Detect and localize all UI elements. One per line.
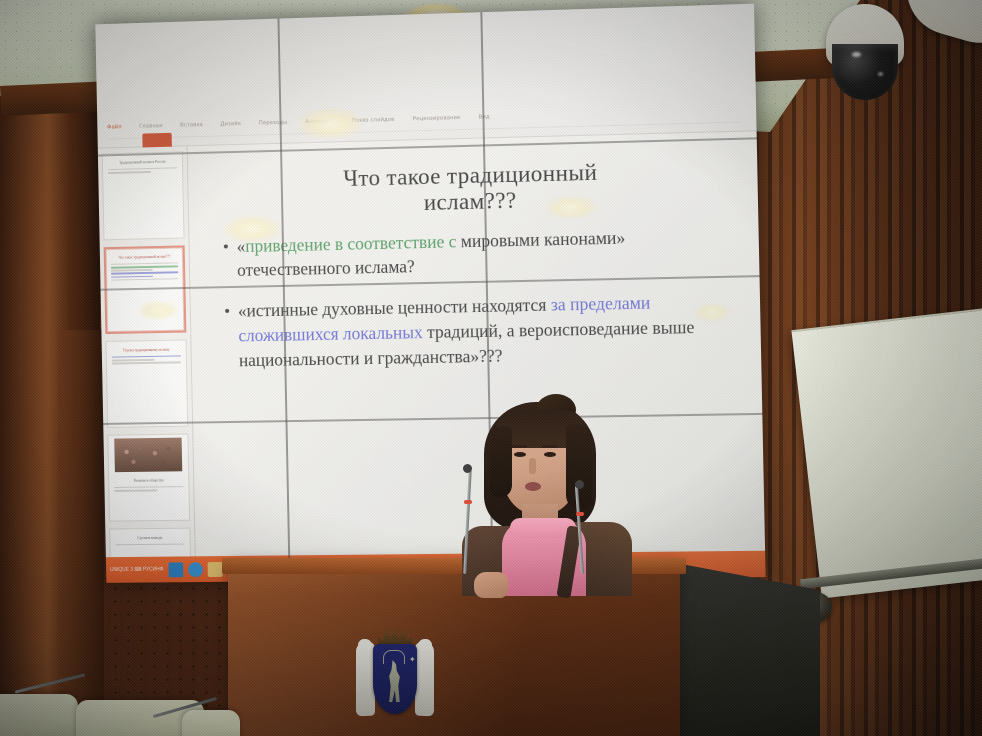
tab-review[interactable]: Рецензирование [412, 115, 460, 122]
powerpoint-ribbon: Файл Главная Вставка Дизайн Переходы Ани… [95, 4, 756, 149]
thumb-text-line [115, 543, 184, 545]
thumb-text-line [111, 269, 153, 271]
eye-left [514, 452, 526, 457]
start-button-icon[interactable] [168, 562, 183, 577]
tab-file[interactable]: Файл [107, 124, 122, 130]
bullet-1-seg-1-green: приведение в соответствие с [245, 231, 457, 256]
slide-thumbnail-4[interactable]: Религия и общество [107, 434, 190, 522]
hair-side-right [566, 424, 592, 510]
thumb-text-line [108, 171, 151, 174]
thumb-text-line [114, 489, 157, 491]
thumb-text-line-blue [111, 272, 178, 275]
eyebrow-right [542, 445, 557, 448]
slide-bullet-1: «приведение в соответствие с мировыми ка… [221, 223, 731, 284]
thumb-title-1: Традиционный ислам в России [106, 159, 179, 166]
slide-bullet-2: «истинные духовные ценности находятся за… [222, 289, 733, 373]
eyebrow-left [512, 445, 527, 448]
bear-head-left [358, 639, 372, 650]
thumb-text-line [112, 359, 155, 361]
file-explorer-icon[interactable] [207, 562, 222, 577]
bullet-1-seg-0: « [236, 236, 245, 256]
hair-side-left [490, 426, 512, 498]
microphone-indicator-left [464, 500, 472, 504]
thumb-text-line-blue [111, 275, 153, 277]
thumb-title-3: Угрозы традиционному исламу [110, 347, 183, 353]
thumb-title-4: Религия и общество [112, 478, 185, 484]
tab-home[interactable]: Главная [139, 123, 162, 130]
thumb-text-line [111, 278, 178, 281]
camera-highlight [852, 52, 861, 57]
slide-title-line-2: ислам??? [424, 188, 517, 215]
thumb-text-line-blue [112, 355, 181, 358]
camera-highlight-2 [878, 72, 883, 76]
hand [474, 572, 508, 598]
bear-head-right [418, 639, 432, 650]
regional-coat-of-arms-emblem: ✦ [352, 618, 438, 722]
taskbar-language-label: UNIQUE 3 ⌨ РУСИНФ [110, 567, 163, 573]
nose [529, 458, 536, 474]
microphone-head-right [575, 480, 584, 489]
thumb-text-line [108, 167, 177, 170]
star-icon: ✦ [409, 656, 416, 663]
thumb-title-5: Сделаем выводы [113, 536, 186, 542]
screenshot-root: Файл Главная Вставка Дизайн Переходы Ани… [0, 0, 982, 736]
polar-bear-right-icon [415, 642, 434, 717]
tab-transitions[interactable]: Переходы [259, 119, 288, 126]
thumb-text-line [112, 362, 181, 365]
slide-thumbnail-3[interactable]: Угрозы традиционному исламу [105, 339, 188, 427]
projected-desktop: Файл Главная Вставка Дизайн Переходы Ани… [95, 4, 765, 583]
slide-thumbnail-pane[interactable]: Традиционный ислам в России Что такое тр… [98, 146, 196, 561]
slide-bullet-list: «приведение в соответствие с мировыми ка… [221, 223, 733, 374]
podium-side-dark [660, 560, 820, 736]
tab-insert[interactable]: Вставка [180, 122, 203, 129]
whiteboard [791, 308, 982, 599]
thumb-text-line [114, 486, 183, 488]
speaker-person [440, 396, 660, 596]
thumb-text-line-green [111, 265, 178, 268]
video-wall-screen: Файл Главная Вставка Дизайн Переходы Ани… [95, 4, 765, 583]
tab-design[interactable]: Дизайн [221, 121, 242, 128]
microphone-head-left [463, 464, 472, 473]
microphone-indicator-right [576, 512, 584, 516]
tab-animations[interactable]: Анимация [305, 118, 334, 125]
slide-thumbnail-1[interactable]: Традиционный ислам в России [102, 151, 185, 240]
internet-explorer-icon[interactable] [188, 562, 203, 577]
chair-1 [0, 694, 78, 736]
tab-slideshow[interactable]: Показ слайдов [352, 116, 395, 123]
slide-title-line-1: Что такое традиционный [343, 160, 598, 191]
thumbnail-photo-crowd [114, 438, 182, 473]
thumb-title-2: Что такое традиционный ислам??? [109, 254, 180, 260]
slide-title: Что такое традиционный ислам??? [235, 157, 709, 220]
chair-3 [182, 710, 240, 736]
eye-right [544, 452, 556, 457]
mouth [525, 482, 541, 491]
